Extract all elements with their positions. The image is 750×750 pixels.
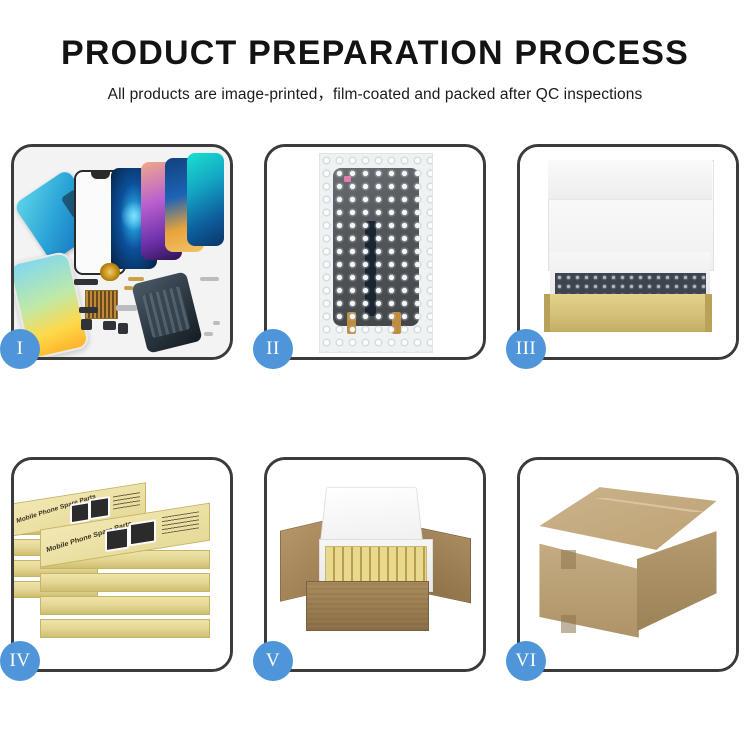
process-step-panel-2[interactable]: II (264, 144, 486, 360)
carton-seam-icon-top (561, 550, 576, 569)
process-step-panel-4[interactable]: Mobile Phone Spare Parts Mobile Phone Sp… (11, 457, 233, 672)
step-6-image (520, 460, 736, 669)
copper-coil-icon (100, 263, 119, 282)
step-3-image (520, 147, 736, 357)
kraft-box-base-icon (544, 294, 712, 332)
step-badge-3: III (506, 329, 546, 369)
step-2-image (267, 147, 483, 357)
bubble-bag-icon (319, 153, 433, 352)
bubble-texture-icon (320, 154, 432, 351)
flex-cable-icon-1 (74, 279, 98, 284)
box-lid-top-icon (548, 160, 712, 201)
process-step-panel-6[interactable]: VI (517, 457, 739, 672)
carton-body-icon (306, 581, 429, 631)
screw-icon-1 (204, 332, 213, 336)
small-part-icon-1 (79, 307, 98, 313)
bubble-wrapped-screen-illustration (267, 147, 483, 357)
inner-box-illustration (520, 147, 736, 357)
process-step-panel-1[interactable]: I (11, 144, 233, 360)
process-step-panel-5[interactable]: V (264, 457, 486, 672)
small-part-icon-2 (81, 319, 92, 330)
sealed-carton-illustration (520, 460, 736, 669)
carton-front-face-icon (539, 544, 638, 638)
carton-seam-icon-bottom (561, 615, 576, 634)
process-step-panel-3[interactable]: III (517, 144, 739, 360)
phones-and-parts-illustration (14, 147, 230, 357)
phone-opened-housing-icon (131, 271, 203, 354)
small-part-icon-4 (118, 323, 129, 334)
carton-packing-illustration (267, 460, 483, 669)
process-step-grid: I II (11, 144, 739, 672)
gold-contact-icon-2 (124, 286, 133, 290)
retail-box-icon-f3 (40, 596, 210, 615)
stacked-boxes-illustration: Mobile Phone Spare Parts Mobile Phone Sp… (14, 460, 230, 669)
box-print-screen-icon-f1 (105, 527, 129, 553)
connector-array-icon (85, 290, 117, 319)
step-badge-2: II (253, 329, 293, 369)
box-print-screen-icon-r2 (88, 496, 109, 520)
step-badge-6: VI (506, 641, 546, 681)
step-1-image (14, 147, 230, 357)
step-badge-1: I (0, 329, 40, 369)
tweezers-icon (200, 277, 219, 281)
page-header: PRODUCT PREPARATION PROCESS All products… (0, 0, 750, 104)
metal-bracket-icon-1 (116, 305, 138, 311)
phone-teal-screen-icon (187, 153, 224, 245)
step-4-image: Mobile Phone Spare Parts Mobile Phone Sp… (14, 460, 230, 669)
small-part-icon-3 (103, 321, 116, 329)
page-title: PRODUCT PREPARATION PROCESS (0, 0, 750, 70)
screw-icon-2 (213, 321, 221, 325)
page-subtitle: All products are image-printed，film-coat… (0, 70, 750, 104)
retail-box-icon-f2 (40, 573, 210, 592)
gold-contact-icon-1 (128, 277, 143, 281)
retail-box-icon-f4 (40, 619, 210, 638)
step-5-image (267, 460, 483, 669)
step-badge-4: IV (0, 641, 40, 681)
yellow-boxes-inside-icon (325, 546, 426, 584)
step-badge-5: V (253, 641, 293, 681)
